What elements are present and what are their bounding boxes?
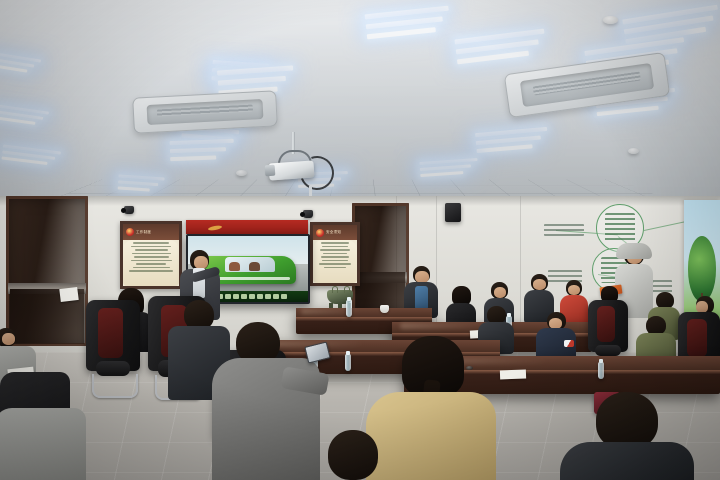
vehicle-occupant	[249, 262, 260, 271]
wall-plaque-right: 安全须知	[310, 222, 360, 286]
chair-back	[86, 300, 140, 371]
security-camera-icon	[303, 210, 313, 218]
paper-cup[interactable]	[380, 305, 389, 313]
crest-icon	[316, 229, 324, 237]
diagram-edge	[644, 221, 685, 231]
table-sheen	[301, 309, 383, 314]
banner-mark-icon	[208, 224, 222, 230]
presenter-face	[194, 256, 208, 269]
water-bottle[interactable]	[598, 362, 604, 379]
attendee-face	[494, 287, 506, 298]
attendee-head	[566, 280, 582, 296]
wall-speaker	[445, 203, 461, 222]
plaque-header: 工作制度	[123, 224, 179, 240]
ceiling	[0, 0, 720, 212]
water-bottle[interactable]	[345, 354, 351, 371]
table-edge	[296, 317, 432, 321]
ceiling-shading	[0, 0, 720, 212]
attendee-face	[533, 279, 546, 290]
attendee-head	[413, 266, 430, 283]
attendee-head	[0, 328, 16, 347]
chair-base	[92, 374, 137, 398]
plaque-header-text: 安全须知	[326, 230, 341, 235]
hoodie-hood	[616, 243, 651, 259]
foreground-attendee	[324, 430, 382, 480]
woman-coat	[366, 392, 496, 480]
ding-handle	[344, 286, 350, 293]
door-center[interactable]	[352, 203, 409, 315]
projector-lens-icon	[265, 165, 276, 177]
attendee-face	[2, 333, 15, 345]
attendee-head	[491, 282, 508, 299]
security-camera-icon	[124, 206, 134, 214]
seated-attendee	[0, 408, 86, 480]
wall-plaque-left: 工作制度	[120, 221, 182, 289]
crest-icon	[126, 228, 134, 236]
foreground-attendee	[560, 392, 694, 480]
vehicle-cabin	[225, 257, 275, 271]
door-sign	[59, 287, 78, 302]
plaque-body	[123, 240, 179, 286]
attendee-torso	[560, 442, 694, 480]
attendee-head	[328, 430, 378, 480]
foreground-woman	[366, 336, 502, 480]
door-left[interactable]	[6, 196, 88, 346]
attendee-face	[568, 285, 580, 295]
water-bottle[interactable]	[346, 300, 352, 317]
office-chair[interactable]	[86, 300, 140, 398]
projector-body	[268, 160, 314, 180]
chair-arm	[595, 345, 621, 357]
conference-room-photo: 工作制度 安全须知	[0, 0, 720, 480]
vehicle-occupant	[229, 262, 240, 271]
plaque-body	[313, 240, 357, 283]
plaque-header: 安全须知	[313, 225, 357, 240]
document[interactable]	[500, 370, 526, 380]
ding-handle	[332, 286, 338, 293]
attendee-head	[531, 274, 548, 291]
presenter-head	[190, 250, 209, 270]
diagram-label	[544, 224, 584, 236]
attendee-torso	[0, 408, 86, 480]
jacket-badge	[564, 340, 574, 347]
attendee-shirt	[415, 286, 428, 310]
red-wall-banner	[186, 220, 308, 234]
plaque-header-text: 工作制度	[136, 230, 151, 235]
